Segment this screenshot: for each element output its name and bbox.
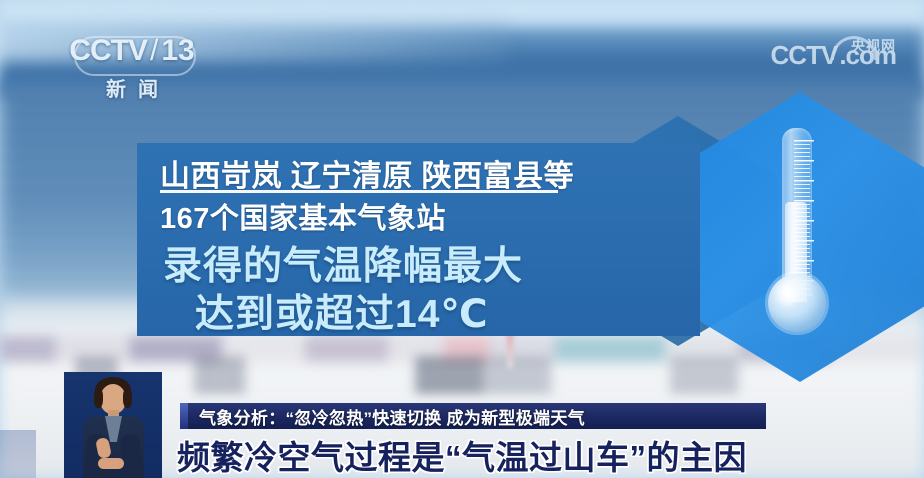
thermometer-bulb bbox=[768, 274, 826, 332]
watermark-chinese: 央视网 bbox=[851, 36, 896, 56]
info-panel-line-1: 山西岢岚 辽宁清原 陕西富县等 bbox=[160, 151, 574, 195]
interpreter-hair-right bbox=[123, 388, 132, 408]
broadcast-screenshot: 山西岢岚 辽宁清原 陕西富县等 167个国家基本气象站 录得的气温降幅最大 达到… bbox=[0, 0, 924, 478]
info-panel-underline bbox=[160, 190, 558, 193]
info-panel: 山西岢岚 辽宁清原 陕西富县等 167个国家基本气象站 录得的气温降幅最大 达到… bbox=[137, 143, 700, 336]
thermometer-icon bbox=[760, 128, 834, 346]
subtitle-text: 频繁冷空气过程是“气温过山车”的主因 bbox=[177, 431, 747, 478]
bottom-subtitle: 频繁冷空气过程是“气温过山车”的主因 bbox=[0, 432, 924, 478]
info-panel-line-4: 达到或超过14℃ bbox=[195, 283, 489, 339]
channel-bug-subtitle: 新闻 bbox=[52, 73, 212, 102]
cctv13-channel-bug: CCTV / 13 新闻 bbox=[52, 34, 212, 106]
interpreter-hair-left bbox=[94, 388, 103, 408]
watermark-brand: CCTV bbox=[771, 40, 838, 71]
thermometer-graphic bbox=[676, 92, 924, 382]
thermometer-major-ticks bbox=[794, 140, 814, 292]
info-panel-line-2: 167个国家基本气象站 bbox=[160, 195, 446, 237]
banner-accent-bar bbox=[180, 403, 188, 429]
banner-text: 气象分析：“忽冷忽热”快速切换 成为新型极端天气 bbox=[199, 404, 585, 429]
channel-bug-outline bbox=[74, 36, 196, 76]
cctv-com-watermark: 央视网 CCTV .com bbox=[771, 40, 896, 71]
lower-third-banner: 气象分析：“忽冷忽热”快速切换 成为新型极端天气 bbox=[188, 403, 766, 429]
